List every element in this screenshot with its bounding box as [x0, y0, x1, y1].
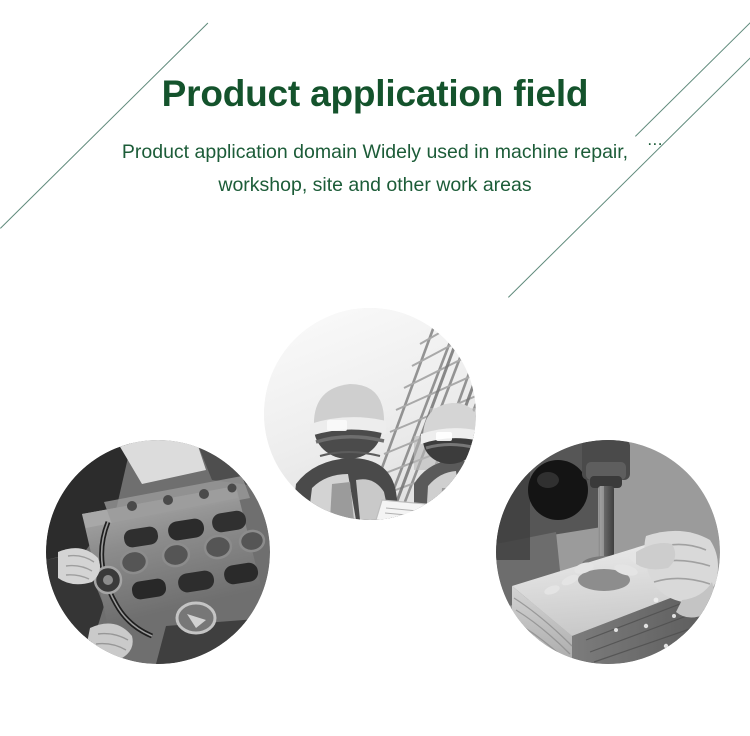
- product-application-field-banner: Product application field Product applic…: [0, 0, 750, 736]
- subtitle-line-1: Product application domain Widely used i…: [122, 141, 628, 163]
- page-title: Product application field: [0, 0, 750, 115]
- gallery-photo-engine-repair: [46, 440, 270, 664]
- workshop-drilling-illustration: [496, 440, 720, 664]
- gallery-photo-construction-workers: [264, 308, 476, 520]
- gallery-photo-wood-drilling: [496, 440, 720, 664]
- engine-repair-illustration: [46, 440, 270, 664]
- ellipsis-icon: ...: [647, 125, 663, 154]
- subtitle-line-2: workshop, site and other work areas: [218, 174, 531, 196]
- construction-site-illustration: [264, 308, 476, 520]
- header-block: Product application field Product applic…: [0, 0, 750, 203]
- page-subtitle: Product application domain Widely used i…: [75, 115, 675, 203]
